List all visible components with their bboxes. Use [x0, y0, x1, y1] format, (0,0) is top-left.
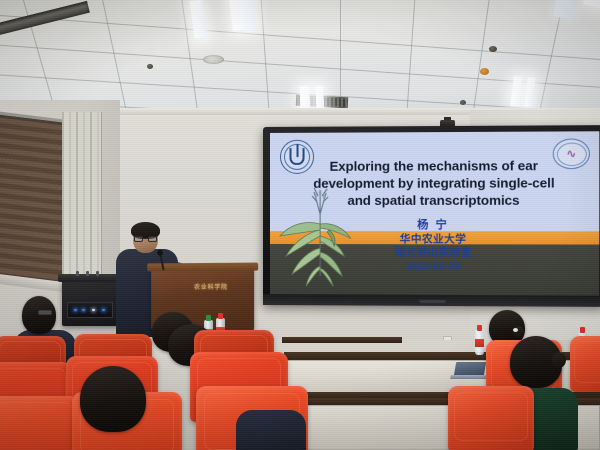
audience-member-head	[80, 366, 146, 432]
audience-member-head	[22, 296, 56, 334]
podium-plaque-text: 农业科学院	[174, 280, 248, 292]
red-auditorium-seat	[0, 396, 80, 450]
av-knob	[86, 271, 89, 276]
smoke-detector	[480, 68, 489, 75]
audience-eyeglasses-icon	[38, 310, 52, 315]
emblem-mark	[290, 148, 305, 165]
screen-brand-mark	[419, 300, 446, 303]
wall-mounted-presentation-screen[interactable]: ∿ Exploring the mechanisms of ear develo…	[263, 125, 600, 307]
audience-member-shoulders	[236, 410, 306, 450]
slide-title-line-2: development by integrating single-cell	[304, 174, 564, 192]
av-knob	[96, 271, 99, 276]
window-with-brown-blinds	[0, 111, 68, 288]
smoke-detector	[489, 46, 497, 52]
slide-date: 2023-05-29	[270, 260, 599, 275]
lecture-hall-photo: ∿ Exploring the mechanisms of ear develo…	[0, 0, 600, 450]
bottle-label	[475, 339, 484, 347]
screen-bezel-bottom	[263, 294, 600, 307]
slide-subtitle-block: 杨 宁 华中农业大学 湖北洪山实验室 2023-05-29	[270, 219, 599, 274]
red-auditorium-seat	[448, 386, 534, 450]
av-status-led	[74, 309, 77, 311]
presentation-slide: ∿ Exploring the mechanisms of ear develo…	[270, 131, 599, 295]
audience-hair-bun	[552, 352, 566, 368]
water-bottle	[475, 330, 484, 355]
window-blind	[0, 117, 62, 281]
glasses-lens-right	[148, 236, 157, 242]
presenter-eyeglasses-icon	[134, 236, 157, 242]
fluorescent-panel-light	[227, 0, 256, 31]
smoke-detector	[460, 100, 466, 105]
screen-display-area: ∿ Exploring the mechanisms of ear develo…	[270, 131, 599, 295]
slide-affiliation: 华中农业大学	[270, 233, 599, 247]
av-knob	[76, 271, 79, 276]
av-status-led	[82, 309, 85, 311]
slide-speaker-name: 杨 宁	[270, 219, 599, 233]
red-auditorium-seat	[570, 336, 600, 392]
av-rack-top-panel	[58, 274, 122, 282]
seal-mark: ∿	[567, 147, 577, 160]
av-status-led	[102, 309, 105, 311]
slide-title-line-3: and spatial transcriptomics	[304, 192, 564, 210]
side-desk-edge	[282, 337, 402, 343]
glasses-lens-left	[134, 236, 143, 242]
slide-laboratory: 湖北洪山实验室	[270, 246, 599, 260]
slide-title-line-1: Exploring the mechanisms of ear	[304, 157, 564, 175]
slide-title: Exploring the mechanisms of ear developm…	[304, 157, 564, 210]
ceiling-speaker	[203, 55, 224, 64]
hair-tie	[513, 328, 518, 332]
smoke-detector	[147, 64, 153, 69]
audience-laptop	[454, 362, 486, 376]
av-status-led	[92, 309, 95, 311]
av-equipment-rack	[62, 280, 118, 326]
av-front-panel	[67, 302, 113, 318]
